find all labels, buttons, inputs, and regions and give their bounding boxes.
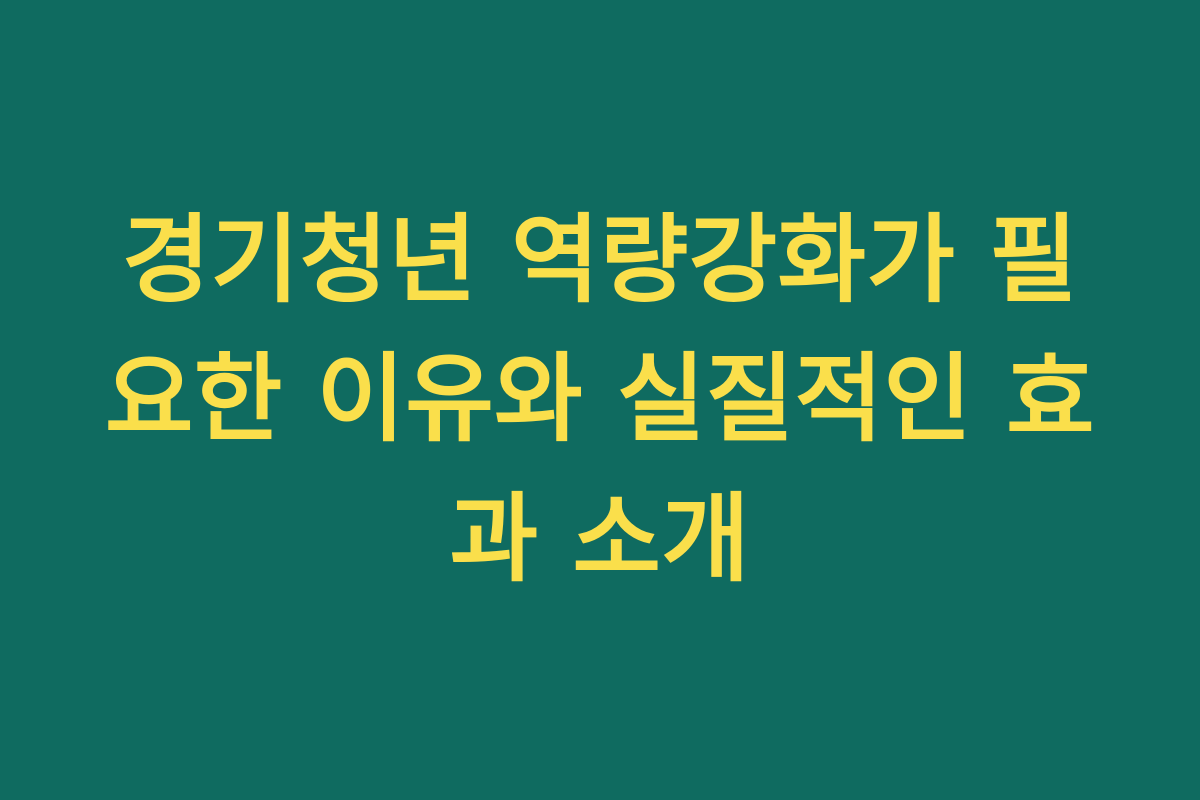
headline-line-3: 과 소개: [105, 470, 1095, 609]
title-card: 경기청년 역량강화가 필 요한 이유와 실질적인 효 과 소개: [0, 0, 1200, 800]
headline-line-1: 경기청년 역량강화가 필: [105, 191, 1095, 330]
headline-block: 경기청년 역량강화가 필 요한 이유와 실질적인 효 과 소개: [95, 191, 1105, 608]
headline-line-2: 요한 이유와 실질적인 효: [105, 330, 1095, 469]
